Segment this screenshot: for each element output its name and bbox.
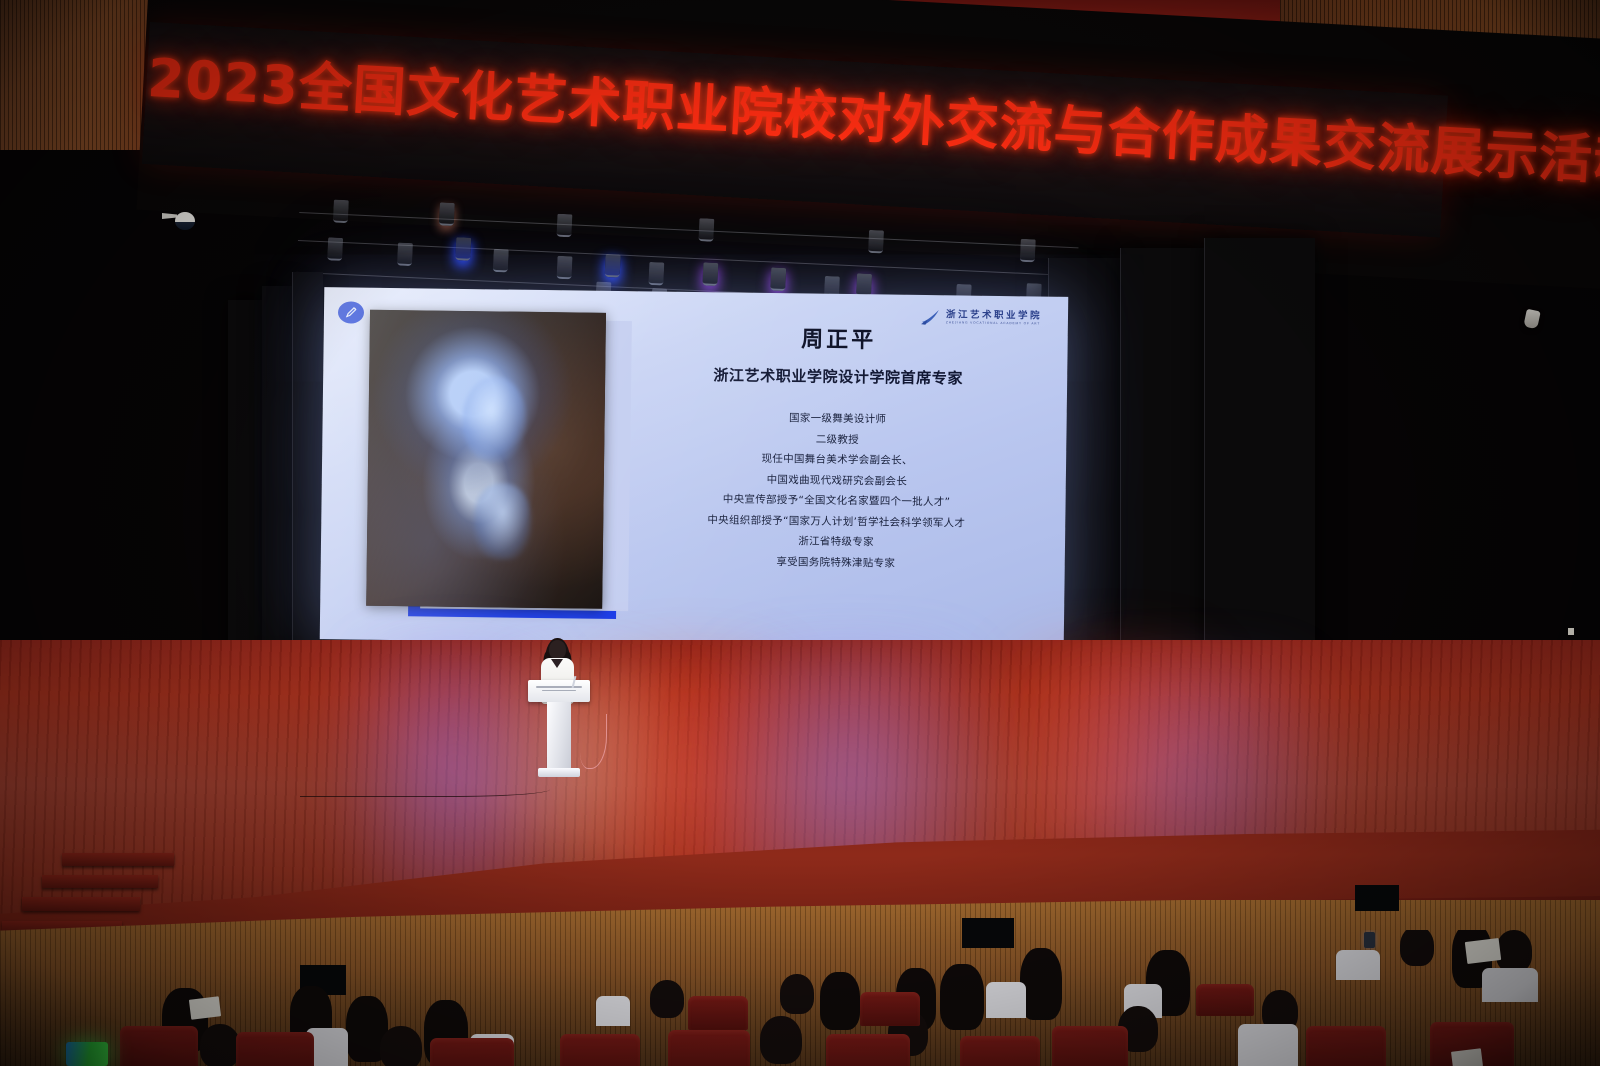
phone-icon bbox=[1364, 932, 1375, 948]
audience-head bbox=[200, 1024, 240, 1066]
podium bbox=[528, 680, 590, 778]
seat bbox=[960, 1036, 1040, 1066]
seat bbox=[860, 992, 920, 1026]
audience-head bbox=[780, 974, 814, 1014]
auditorium-photo: 2023全国文化艺术职业院校对外交流与合作成果交流展示活动 bbox=[0, 0, 1600, 1066]
credential-line: 享受国务院特殊津贴专家 bbox=[621, 550, 1051, 576]
audience-head bbox=[1020, 948, 1062, 1020]
podium-label bbox=[536, 686, 582, 696]
audience-head bbox=[940, 964, 984, 1030]
seat bbox=[560, 1034, 640, 1066]
projection-screen: 浙江艺术职业学院 ZHEJIANG VOCATIONAL ACADEMY OF … bbox=[320, 287, 1069, 649]
audience-shirt bbox=[1482, 968, 1538, 1002]
audience-head bbox=[820, 972, 860, 1030]
audience-head bbox=[760, 1016, 802, 1064]
stage-cable bbox=[300, 778, 550, 797]
seat bbox=[1196, 984, 1254, 1016]
audience-shirt bbox=[986, 982, 1026, 1018]
seat bbox=[236, 1032, 314, 1066]
audience-device-screen bbox=[66, 1042, 108, 1066]
dome-camera-icon bbox=[175, 212, 197, 228]
audience-paper bbox=[189, 996, 221, 1020]
audience-shirt bbox=[1336, 950, 1380, 980]
logo-text-cn: 浙江艺术职业学院 bbox=[946, 310, 1042, 321]
speaker-credentials-list: 国家一级舞美设计师 二级教授 现任中国舞台美术学会副会长、 中国戏曲现代戏研究会… bbox=[621, 406, 1053, 576]
seat bbox=[120, 1026, 198, 1066]
wall-vent bbox=[1355, 885, 1399, 911]
audience-head bbox=[650, 980, 684, 1018]
speaker-name: 周正平 bbox=[624, 319, 1054, 357]
audience-head bbox=[1496, 930, 1532, 972]
audience-shirt bbox=[1238, 1024, 1298, 1066]
seat bbox=[1306, 1026, 1386, 1066]
audience-paper bbox=[1465, 938, 1501, 964]
audience-area bbox=[0, 930, 1600, 1066]
seat bbox=[826, 1034, 910, 1066]
wall-marker-right bbox=[1568, 628, 1574, 635]
audience-paper bbox=[1451, 1048, 1483, 1066]
audience-head bbox=[1400, 930, 1434, 966]
speaker-role: 浙江艺术职业学院设计学院首席专家 bbox=[623, 363, 1053, 390]
seat bbox=[668, 1030, 750, 1066]
pen-icon bbox=[338, 301, 364, 323]
slide-text-block: 周正平 浙江艺术职业学院设计学院首席专家 国家一级舞美设计师 二级教授 现任中国… bbox=[621, 319, 1054, 576]
seat bbox=[1052, 1026, 1128, 1066]
seat bbox=[430, 1038, 514, 1066]
audience-shirt bbox=[596, 996, 630, 1026]
seat bbox=[688, 996, 748, 1030]
portrait-photo bbox=[366, 310, 606, 609]
audience-head bbox=[380, 1026, 422, 1066]
